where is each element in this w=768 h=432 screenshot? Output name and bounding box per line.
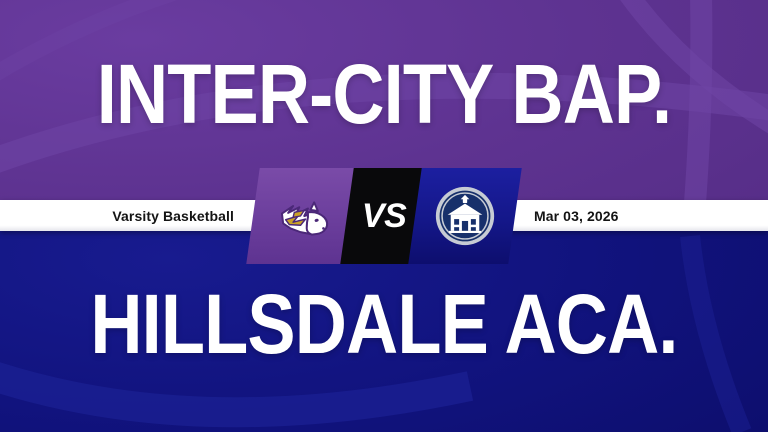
home-team-name: INTER-CITY BAP. bbox=[54, 52, 714, 136]
sport-label: Varsity Basketball bbox=[0, 200, 248, 231]
mustang-head-icon bbox=[272, 185, 334, 247]
away-team-name: HILLSDALE ACA. bbox=[54, 282, 714, 366]
schoolhouse-crest-icon bbox=[434, 185, 496, 247]
away-logo-panel[interactable] bbox=[408, 168, 521, 264]
matchup-graphic: INTER-CITY BAP. HILLSDALE ACA. Varsity B… bbox=[0, 0, 768, 432]
versus-label: VS bbox=[362, 197, 406, 236]
date-label: Mar 03, 2026 bbox=[524, 200, 768, 231]
